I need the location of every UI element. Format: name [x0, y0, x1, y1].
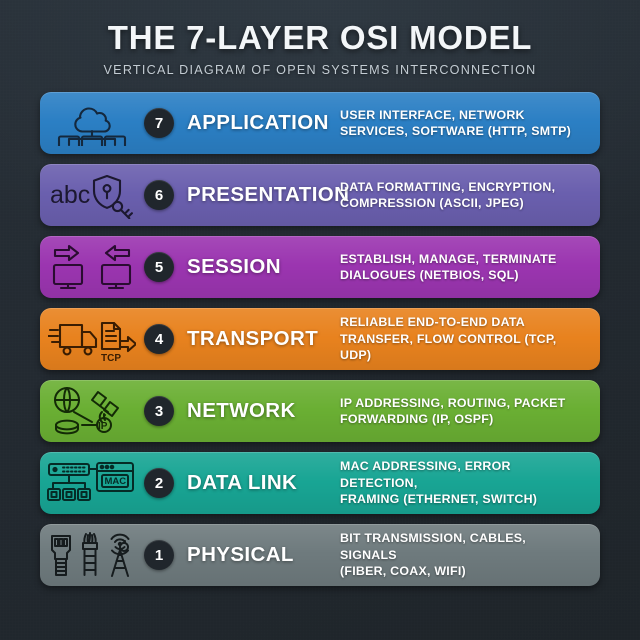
layer-description-line1: IP ADDRESSING, ROUTING, PACKET: [340, 395, 566, 411]
layer-row-transport[interactable]: TCP 4 TRANSPORT RELIABLE END-TO-END DATA…: [40, 308, 600, 370]
layer-name: PRESENTATION: [187, 183, 349, 207]
layer-number-badge: 7: [144, 108, 174, 138]
layer-identity-session: 5 SESSION: [144, 252, 340, 282]
layer-description-line2: (FIBER, COAX, WIFI): [340, 563, 586, 579]
layer-row-session[interactable]: 5 SESSION ESTABLISH, MANAGE, TERMINATE D…: [40, 236, 600, 298]
layer-identity-presentation: 6 PRESENTATION: [144, 180, 340, 210]
layer-number-badge: 4: [144, 324, 174, 354]
layer-description-line1: MAC ADDRESSING, ERROR DETECTION,: [340, 458, 586, 491]
layer-row-presentation[interactable]: abc 6 PRESENTATION DATA FORMATTING, ENCR…: [40, 164, 600, 226]
layer-description-line2: SERVICES, SOFTWARE (HTTP, SMTP): [340, 123, 571, 139]
layer-name: SESSION: [187, 255, 281, 279]
layer-description: MAC ADDRESSING, ERROR DETECTION, FRAMING…: [340, 458, 600, 507]
layer-row-application[interactable]: 7 APPLICATION USER INTERFACE, NETWORK SE…: [40, 92, 600, 154]
layer-description-line1: USER INTERFACE, NETWORK: [340, 107, 571, 123]
globe-satellite-ip-icon: IP: [40, 380, 144, 442]
page-title: THE 7-LAYER OSI MODEL: [0, 21, 640, 54]
layer-description-line1: DATA FORMATTING, ENCRYPTION,: [340, 179, 555, 195]
cloud-network-icon: [40, 92, 144, 154]
layer-row-physical[interactable]: 1 PHYSICAL BIT TRANSMISSION, CABLES, SIG…: [40, 524, 600, 586]
layer-number-badge: 5: [144, 252, 174, 282]
layer-description-line2: DIALOGUES (NETBIOS, SQL): [340, 267, 557, 283]
layer-identity-data-link: 2 DATA LINK: [144, 468, 340, 498]
layer-row-network[interactable]: IP 3 NETWORK IP ADDRESSING, ROUTING, PAC…: [40, 380, 600, 442]
page-subtitle: VERTICAL DIAGRAM OF OPEN SYSTEMS INTERCO…: [0, 63, 640, 77]
layer-identity-transport: 4 TRANSPORT: [144, 324, 340, 354]
layer-number-badge: 3: [144, 396, 174, 426]
ip-label: IP: [98, 421, 108, 432]
layer-description: IP ADDRESSING, ROUTING, PACKET FORWARDIN…: [340, 395, 580, 428]
layer-description: RELIABLE END-TO-END DATA TRANSFER, FLOW …: [340, 314, 600, 363]
layer-description-line1: ESTABLISH, MANAGE, TERMINATE: [340, 251, 557, 267]
layer-description: ESTABLISH, MANAGE, TERMINATE DIALOGUES (…: [340, 251, 571, 284]
tcp-label: TCP: [101, 353, 121, 363]
layer-name: APPLICATION: [187, 111, 329, 135]
layer-identity-application: 7 APPLICATION: [144, 108, 340, 138]
layer-description-line2: COMPRESSION (ASCII, JPEG): [340, 195, 555, 211]
rj45-cable-antenna-icon: [40, 524, 144, 586]
abc-label: abc: [50, 181, 90, 209]
layer-identity-physical: 1 PHYSICAL: [144, 540, 340, 570]
layer-number-badge: 1: [144, 540, 174, 570]
layer-identity-network: 3 NETWORK: [144, 396, 340, 426]
layer-description-line2: FORWARDING (IP, OSPF): [340, 411, 566, 427]
diagram-header: THE 7-LAYER OSI MODEL VERTICAL DIAGRAM O…: [0, 0, 640, 77]
layer-stack: 7 APPLICATION USER INTERFACE, NETWORK SE…: [40, 92, 600, 596]
mac-label: MAC: [105, 476, 127, 487]
layer-description-line2: FRAMING (ETHERNET, SWITCH): [340, 491, 586, 507]
layer-name: TRANSPORT: [187, 327, 318, 351]
layer-name: DATA LINK: [187, 471, 297, 495]
layer-name: NETWORK: [187, 399, 296, 423]
layer-name: PHYSICAL: [187, 543, 294, 567]
layer-description: USER INTERFACE, NETWORK SERVICES, SOFTWA…: [340, 107, 585, 140]
switch-mac-icon: MAC: [40, 452, 144, 514]
layer-number-badge: 6: [144, 180, 174, 210]
layer-description-line1: RELIABLE END-TO-END DATA: [340, 314, 586, 330]
osi-diagram-canvas: THE 7-LAYER OSI MODEL VERTICAL DIAGRAM O…: [0, 0, 640, 640]
layer-number-badge: 2: [144, 468, 174, 498]
layer-description-line1: BIT TRANSMISSION, CABLES, SIGNALS: [340, 530, 586, 563]
abc-shield-key-icon: abc: [40, 164, 144, 226]
two-monitors-arrows-icon: [40, 236, 144, 298]
layer-description-line2: TRANSFER, FLOW CONTROL (TCP, UDP): [340, 331, 586, 364]
layer-description: BIT TRANSMISSION, CABLES, SIGNALS (FIBER…: [340, 530, 600, 579]
layer-row-data-link[interactable]: MAC 2 DATA LINK MAC ADDRESSING, ERROR DE…: [40, 452, 600, 514]
layer-description: DATA FORMATTING, ENCRYPTION, COMPRESSION…: [340, 179, 569, 212]
truck-tcp-packet-icon: TCP: [40, 308, 144, 370]
